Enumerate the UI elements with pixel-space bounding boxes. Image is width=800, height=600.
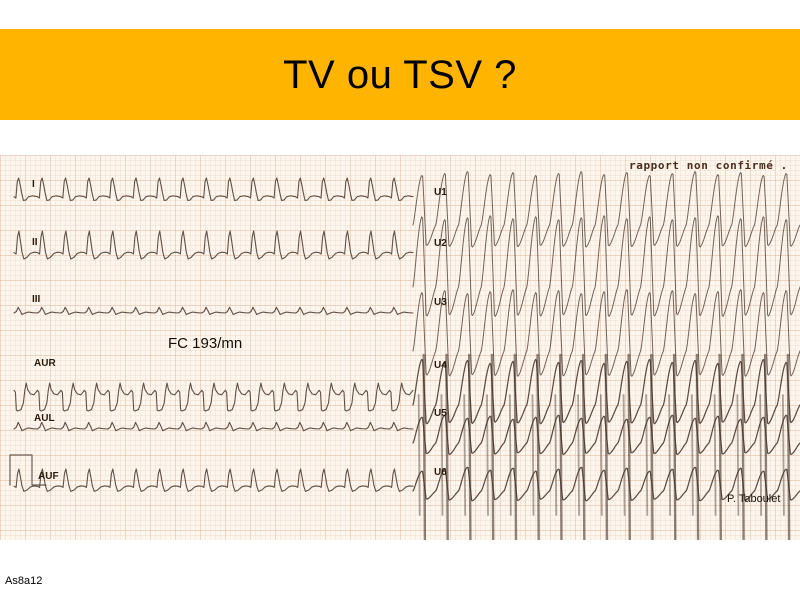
ecg-figure: FC 193/mn rapport non confirmé . P. Tabo… [0, 155, 800, 540]
lead-label-AUF: AUF [38, 471, 59, 482]
ecg-waveform [424, 355, 425, 540]
slide-code: As8a12 [5, 575, 42, 587]
ecg-waveform [487, 395, 488, 515]
lead-label-III: III [32, 294, 40, 305]
ecg-waveform [692, 395, 693, 515]
title-banner: TV ou TSV ? [0, 29, 800, 120]
lead-label-U2: U2 [434, 238, 447, 249]
ecg-waveform [715, 395, 716, 515]
ecg-waveform [629, 355, 630, 540]
ecg-waveform [538, 355, 539, 540]
lead-label-U5: U5 [434, 408, 447, 419]
ecg-waveform [578, 395, 579, 515]
ecg-waveform [765, 355, 766, 540]
ecg-waveform [555, 395, 556, 515]
ecg-waveform [601, 395, 602, 515]
report-status-annotation: rapport non confirmé . [629, 159, 788, 172]
ecg-waveform [606, 355, 607, 540]
ecg-waveform [742, 355, 743, 540]
ecg-waveform [583, 355, 584, 540]
lead-label-U6: U6 [434, 467, 447, 478]
ecg-waveform [419, 395, 420, 515]
ecg-waveform [624, 395, 625, 515]
ecg-waveform [515, 355, 516, 540]
author-credit: P. Taboulet [727, 493, 780, 505]
ecg-waveform [783, 395, 784, 515]
ecg-waveform [788, 355, 789, 540]
ecg-waveform [464, 395, 465, 515]
ecg-waveform [674, 355, 675, 540]
lead-label-U1: U1 [434, 187, 447, 198]
heart-rate-annotation: FC 193/mn [168, 335, 242, 352]
lead-label-AUR: AUR [34, 358, 56, 369]
ecg-waveform [720, 355, 721, 540]
page-title: TV ou TSV ? [283, 55, 517, 95]
lead-label-U4: U4 [434, 360, 447, 371]
ecg-waveform [646, 395, 647, 515]
ecg-waveform [533, 395, 534, 515]
ecg-waveform [560, 355, 561, 540]
ecg-waveform [697, 355, 698, 540]
ecg-waveform [492, 355, 493, 540]
lead-label-U3: U3 [434, 297, 447, 308]
ecg-waveform [469, 355, 470, 540]
lead-label-AUL: AUL [34, 413, 55, 424]
ecg-waveform [651, 355, 652, 540]
lead-label-I: I [32, 179, 35, 190]
ecg-waveform [669, 395, 670, 515]
ecg-canvas [0, 155, 800, 540]
ecg-waveform [510, 395, 511, 515]
lead-label-II: II [32, 237, 38, 248]
ecg-waveform [447, 355, 448, 540]
